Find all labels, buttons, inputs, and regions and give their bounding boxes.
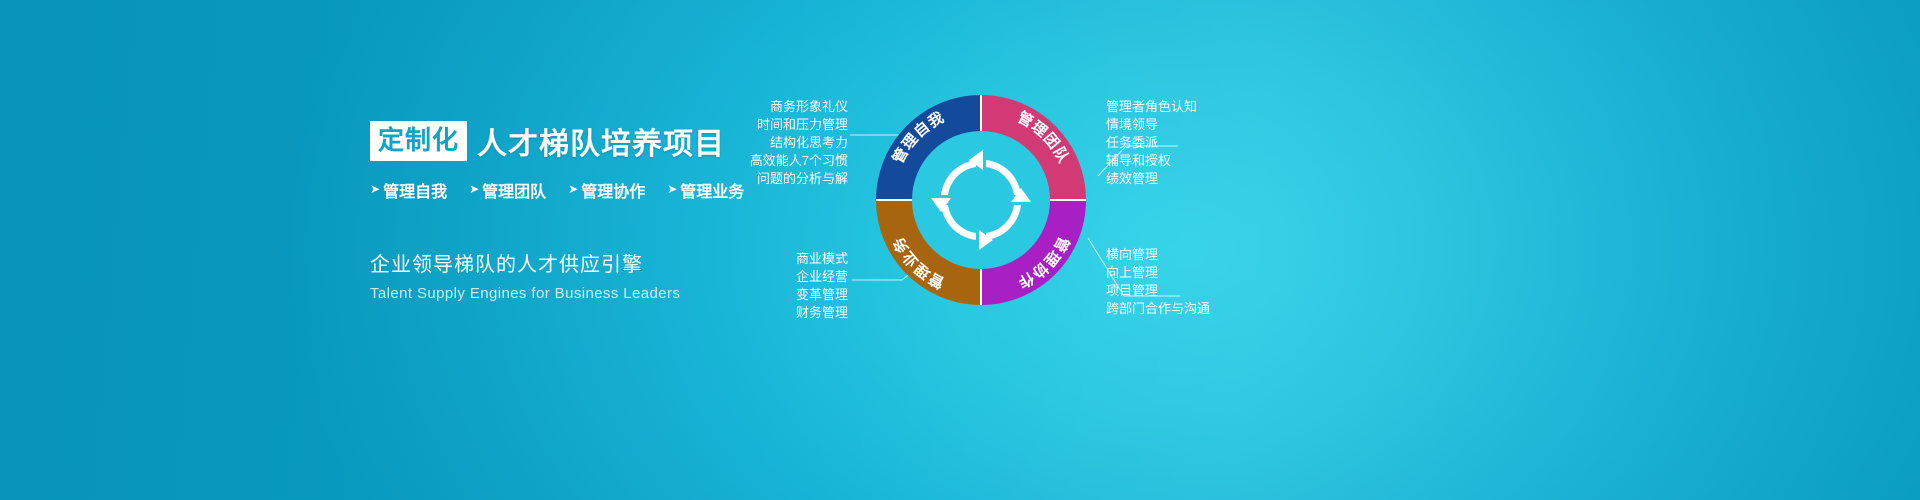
label-item: 绩效管理 <box>1106 170 1286 188</box>
donut-svg: 管理自我 管理团队 管理协作 管理业务 <box>876 80 1086 320</box>
label-group-manage-collaboration: 横向管理 向上管理 项目管理 跨部门合作与沟通 <box>1106 246 1306 318</box>
label-group-manage-team: 管理者角色认知 情境领导 任务委派 辅导和授权 绩效管理 <box>1106 98 1286 188</box>
label-item: 财务管理 <box>700 304 848 322</box>
label-item: 管理者角色认知 <box>1106 98 1286 116</box>
label-item: 高效能人7个习惯 <box>680 152 848 170</box>
label-item: 辅导和授权 <box>1106 152 1286 170</box>
arrow-right-icon: ➤ <box>469 183 479 195</box>
label-item: 向上管理 <box>1106 264 1306 282</box>
label-item: 变革管理 <box>700 286 848 304</box>
nav-item-label: 管理协作 <box>581 178 645 202</box>
label-item: 项目管理 <box>1106 282 1306 300</box>
arrow-right-icon: ➤ <box>370 183 380 195</box>
banner-root: 定制化 人才梯队培养项目 ➤ 管理自我 ➤ 管理团队 ➤ 管理协作 ➤ 管理业务… <box>0 0 1920 500</box>
arrow-right-icon: ➤ <box>667 183 677 195</box>
nav-item-label: 管理自我 <box>383 178 447 202</box>
label-item: 任务委派 <box>1106 134 1286 152</box>
title-badge: 定制化 <box>370 121 467 161</box>
label-item: 情境领导 <box>1106 116 1286 134</box>
label-item: 跨部门合作与沟通 <box>1106 300 1306 318</box>
donut-chart: 管理自我 管理团队 管理协作 管理业务 <box>876 80 1086 320</box>
nav-item-manage-self[interactable]: ➤ 管理自我 <box>370 178 447 202</box>
label-item: 企业经营 <box>700 268 848 286</box>
label-group-manage-self: 商务形象礼仪 时间和压力管理 结构化思考力 高效能人7个习惯 问题的分析与解 <box>680 98 848 188</box>
arrow-right-icon: ➤ <box>568 183 578 195</box>
label-item: 商业模式 <box>700 250 848 268</box>
nav-item-manage-collaboration[interactable]: ➤ 管理协作 <box>568 178 645 202</box>
nav-item-manage-team[interactable]: ➤ 管理团队 <box>469 178 546 202</box>
label-item: 问题的分析与解 <box>680 170 848 188</box>
nav-item-label: 管理团队 <box>482 178 546 202</box>
label-item: 商务形象礼仪 <box>680 98 848 116</box>
label-item: 时间和压力管理 <box>680 116 848 134</box>
label-item: 结构化思考力 <box>680 134 848 152</box>
label-item: 横向管理 <box>1106 246 1306 264</box>
label-group-manage-business: 商业模式 企业经营 变革管理 财务管理 <box>700 250 848 322</box>
